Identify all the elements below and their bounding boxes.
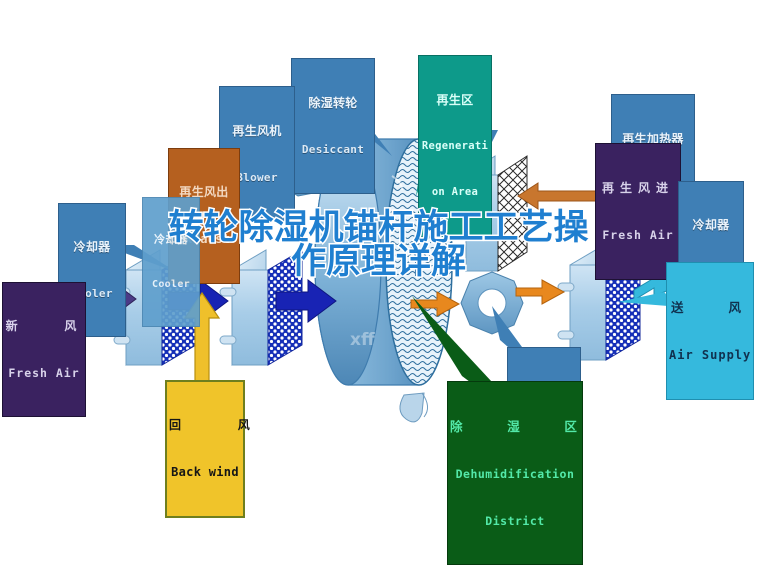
label-air-supply-cn: 送 风 <box>669 301 751 315</box>
label-air-supply-en: Air Supply <box>669 349 751 362</box>
label-dehum-district-cn: 除 湿 区 <box>450 420 580 434</box>
label-air-supply[interactable]: 送 风 Air Supply <box>666 262 754 400</box>
dehum-arrow-2 <box>516 280 564 304</box>
label-regen-fresh-air-cn: 再生风进 <box>598 182 678 195</box>
label-dehum-district[interactable]: 除 湿 区 Dehumidification District <box>447 381 583 565</box>
label-fresh-air[interactable]: 新 风 Fresh Air <box>2 282 86 417</box>
dehum-blower-unit <box>461 272 523 334</box>
label-back-wind[interactable]: 回 风 Back wind <box>165 380 245 518</box>
label-dehum-district-en1: Dehumidification <box>450 468 580 480</box>
label-regen-blower-cn: 再生风机 <box>222 125 292 138</box>
label-back-wind-cn: 回 风 <box>169 419 241 432</box>
label-fresh-air-cn: 新 风 <box>5 320 83 333</box>
dehumidifier-diagram: 除湿转轮 Desiccant 再生风机 Blower 再生区 Regenerat… <box>0 0 757 488</box>
label-regen-area-cn: 再生区 <box>421 94 489 107</box>
label-regen-area-en2: on Area <box>421 187 489 198</box>
label-desiccant-cn: 除湿转轮 <box>294 97 372 110</box>
label-fresh-air-en: Fresh Air <box>5 367 83 379</box>
label-desiccant[interactable]: 除湿转轮 Desiccant <box>291 58 375 194</box>
label-desiccant-en: Desiccant <box>294 144 372 156</box>
page-title-line2: 作原理详解 <box>0 246 757 280</box>
label-back-wind-en: Back wind <box>169 466 241 479</box>
page-title: 转轮除湿机锚杆施工工艺操 作原理详解 <box>0 212 757 279</box>
label-cooler-mid-en: Cooler <box>145 280 197 291</box>
background-watermark: xff <box>350 330 375 350</box>
label-dehum-district-en2: District <box>450 515 580 527</box>
label-regen-area-en1: Regenerati <box>421 141 489 152</box>
